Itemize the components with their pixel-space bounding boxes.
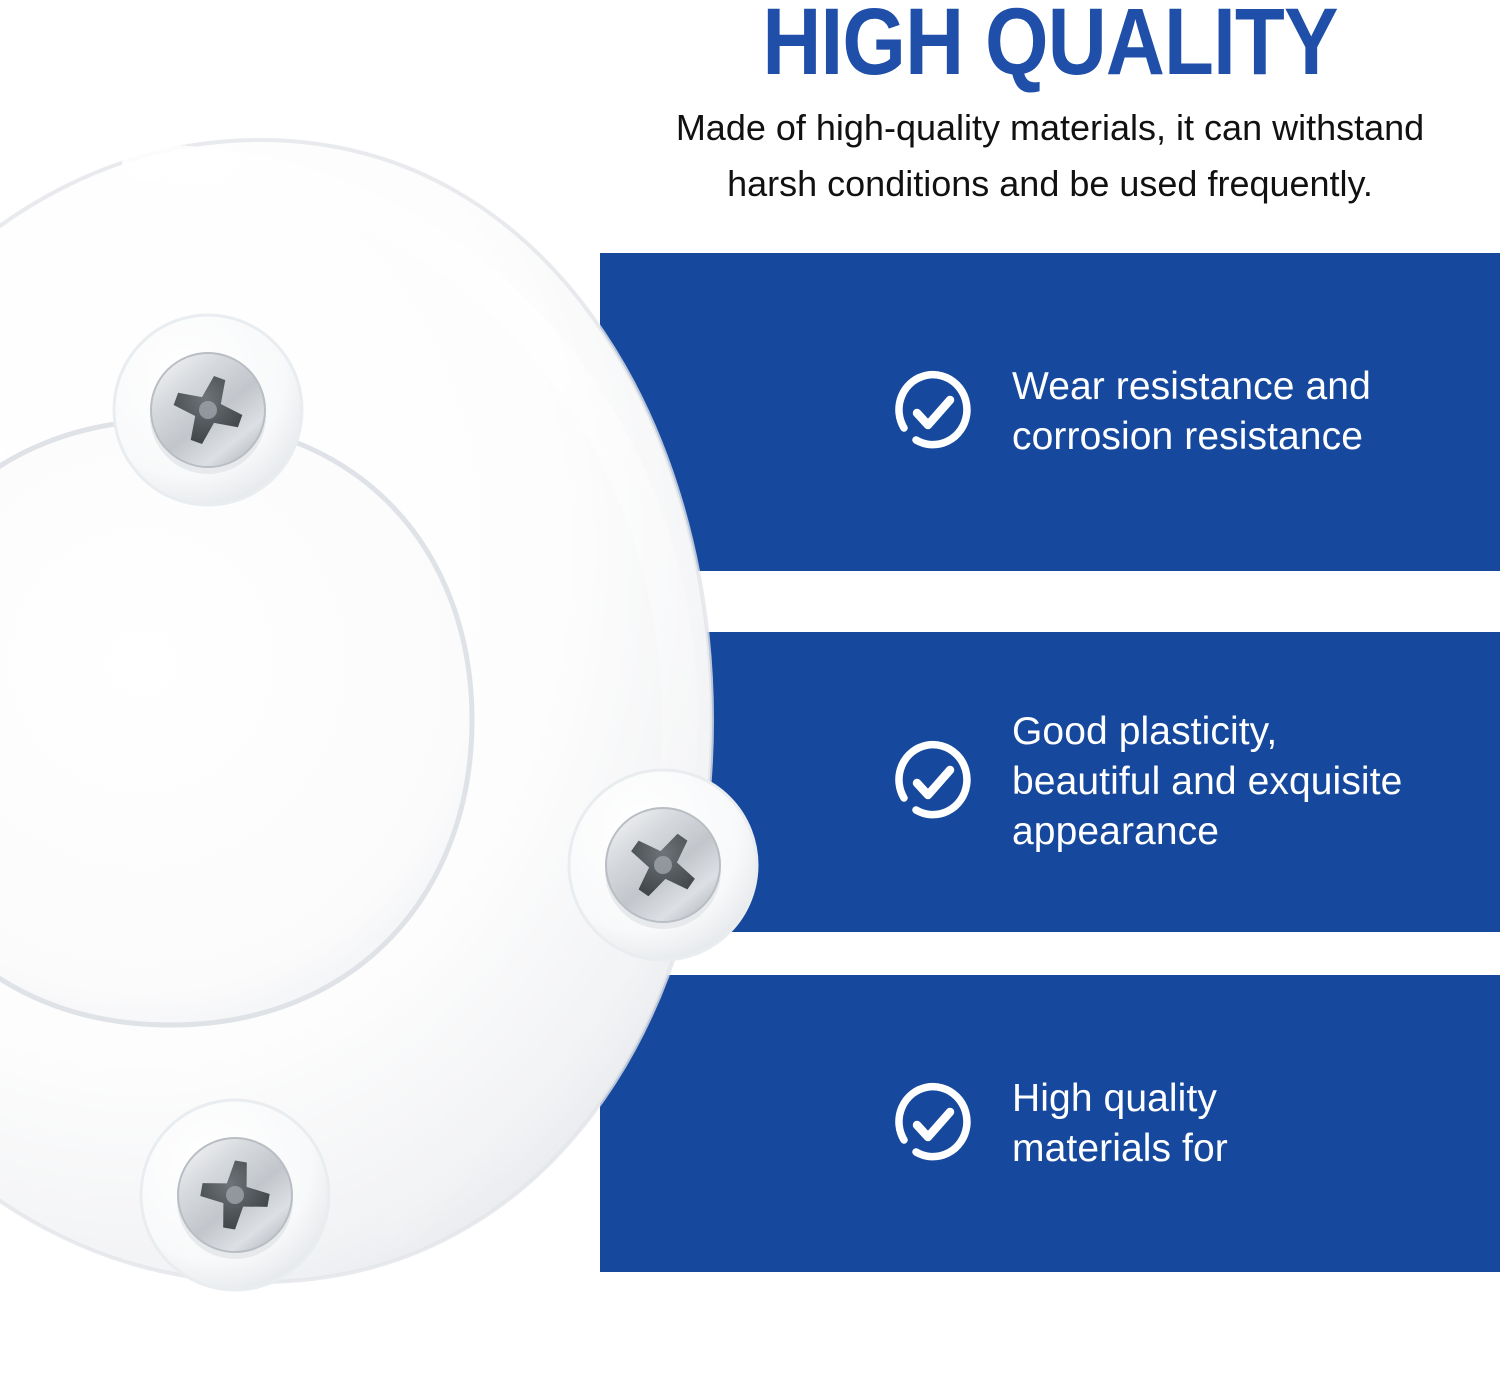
check-circle-icon	[890, 1082, 974, 1166]
feature-line: Wear resistance and	[1012, 362, 1371, 412]
screw-head	[151, 353, 265, 467]
check-circle-icon	[890, 370, 974, 454]
header-subtitle: Made of high-quality materials, it can w…	[620, 100, 1480, 212]
screw-bottom	[141, 1100, 329, 1290]
feature-line: High quality	[1012, 1074, 1228, 1124]
flange-center-hole	[0, 420, 472, 1025]
feature-line: Good plasticity,	[1012, 707, 1402, 757]
feature-panel-1-content: Wear resistance and corrosion resistance	[890, 253, 1480, 571]
feature-panel-3: High quality materials for	[600, 975, 1500, 1272]
feature-line: beautiful and exquisite	[1012, 757, 1402, 807]
feature-panel-1: Wear resistance and corrosion resistance	[600, 253, 1500, 571]
feature-line: corrosion resistance	[1012, 412, 1371, 462]
screw-head	[178, 1138, 292, 1252]
phillips-cross	[164, 366, 251, 453]
product-feature-graphic: Wear resistance and corrosion resistance…	[0, 0, 1500, 1385]
check-circle-icon	[890, 740, 974, 824]
header: HIGH QUALITY Made of high-quality materi…	[600, 0, 1500, 240]
feature-panel-1-text: Wear resistance and corrosion resistance	[1012, 362, 1371, 462]
feature-panel-2-text: Good plasticity, beautiful and exquisite…	[1012, 707, 1402, 857]
subtitle-line: harsh conditions and be used frequently.	[620, 156, 1480, 212]
feature-panel-3-text: High quality materials for	[1012, 1074, 1228, 1174]
feature-panel-2-content: Good plasticity, beautiful and exquisite…	[890, 632, 1480, 932]
feature-panel-2: Good plasticity, beautiful and exquisite…	[600, 632, 1500, 932]
feature-line: materials for	[1012, 1124, 1228, 1174]
feature-panel-3-content: High quality materials for	[890, 975, 1480, 1272]
phillips-cross	[196, 1156, 275, 1235]
page-title: HIGH QUALITY	[663, 0, 1437, 90]
feature-line: appearance	[1012, 807, 1402, 857]
screw-top	[114, 315, 302, 505]
subtitle-line: Made of high-quality materials, it can w…	[620, 100, 1480, 156]
